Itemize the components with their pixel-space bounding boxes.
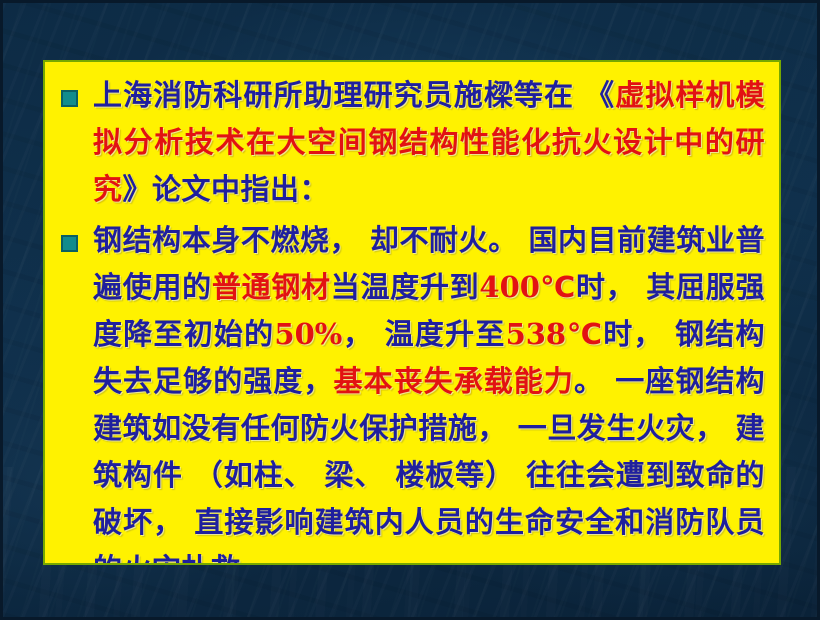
bullet-list: 上海消防科研所助理研究员施樑等在 《虚拟样机模拟分析技术在大空间钢结构性能化抗火… — [45, 62, 779, 565]
content-panel: 上海消防科研所助理研究员施樑等在 《虚拟样机模拟分析技术在大空间钢结构性能化抗火… — [43, 60, 781, 565]
bullet-2-run-8: ， 温度升至 — [342, 317, 505, 351]
bullet-1-run-1: 上海消防科研所助理研究员施樑等在 《 — [93, 78, 615, 112]
bullet-2-run-3: 当温度升到 — [331, 270, 480, 304]
square-bullet-icon — [61, 90, 78, 107]
bullet-2-run-12-emphasis: 基本丧失承载能力 — [334, 364, 575, 398]
bullet-2-percent-50: 50% — [274, 317, 342, 351]
bullet-2-degree-symbol-2: ℃ — [566, 317, 603, 351]
square-bullet-icon — [61, 235, 78, 252]
bullet-2-run-2-emphasis: 普通钢材 — [212, 270, 331, 304]
bullet-2-temperature-538: 538 — [506, 317, 567, 351]
presentation-slide: 上海消防科研所助理研究员施樑等在 《虚拟样机模拟分析技术在大空间钢结构性能化抗火… — [0, 0, 820, 620]
bullet-2-text: 钢结构本身不燃烧， 却不耐火。 国内目前建筑业普遍使用的普通钢材当温度升到400… — [93, 217, 765, 565]
bullet-item-1: 上海消防科研所助理研究员施樑等在 《虚拟样机模拟分析技术在大空间钢结构性能化抗火… — [55, 72, 765, 213]
bullet-2-temperature-400: 400 — [479, 270, 540, 304]
bullet-2-degree-symbol-1: ℃ — [540, 270, 576, 304]
bullet-1-text: 上海消防科研所助理研究员施樑等在 《虚拟样机模拟分析技术在大空间钢结构性能化抗火… — [93, 72, 765, 213]
bullet-item-2: 钢结构本身不燃烧， 却不耐火。 国内目前建筑业普遍使用的普通钢材当温度升到400… — [55, 217, 765, 565]
bullet-1-run-3: 》论文中指出： — [123, 172, 330, 206]
